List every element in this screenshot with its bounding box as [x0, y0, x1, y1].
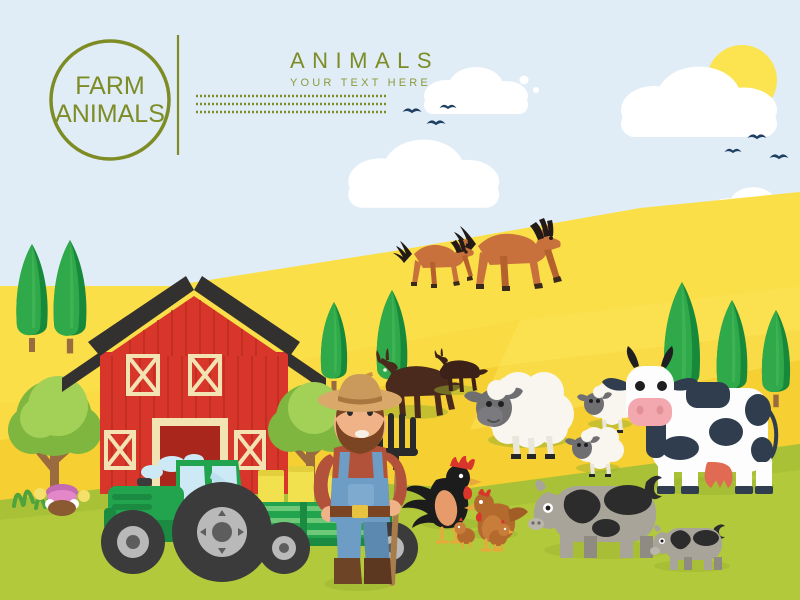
farm-poster: FARM ANIMALS ANIMALS YOUR TEXT HERE	[0, 0, 800, 600]
tractor-wheel-rear	[172, 482, 272, 582]
tractor-wheel-front	[101, 510, 165, 574]
farm-scene-illustration	[0, 0, 800, 600]
